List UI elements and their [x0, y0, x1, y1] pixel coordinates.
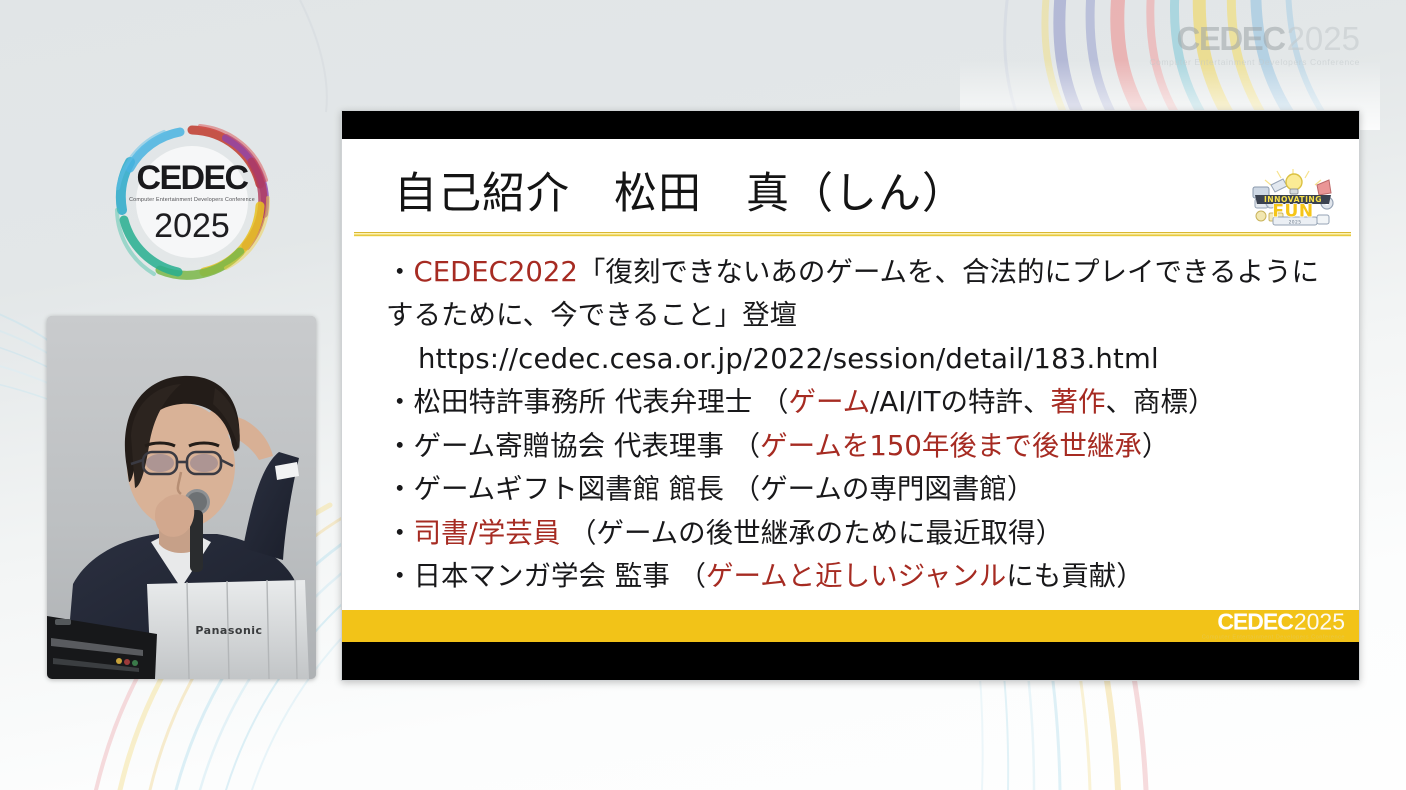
bullet-text-highlight: CEDEC2022 [414, 256, 578, 288]
bullet-text: /AI/ITの特許、 [870, 386, 1050, 418]
bullet-text: （ゲームの後世継承のために最近取得） [560, 517, 1063, 549]
bullet-line: ・ゲームギフト図書館 館長 （ゲームの専門図書館） [386, 468, 1331, 511]
bullet-line: ・CEDEC2022「復刻できないあのゲームを、合法的にプレイできるようにするた… [386, 251, 1331, 338]
bullet-text-highlight: ゲーム [788, 386, 870, 418]
svg-text:Panasonic: Panasonic [195, 624, 262, 637]
slide-bottom-bar [342, 642, 1359, 680]
slide-content: 自己紹介 松田 真（しん） [342, 139, 1359, 610]
bullet-text: にも貢献） [1006, 560, 1144, 592]
svg-text:FUN: FUN [1272, 202, 1313, 222]
circle-logo-brand: CEDEC [136, 161, 247, 195]
bullet-text: ・日本マンガ学会 監事 （ [386, 560, 706, 592]
cedec-watermark-top-right: CEDEC 2025 Computer Entertainment Develo… [1149, 22, 1360, 67]
circle-logo-year: 2025 [154, 209, 230, 243]
watermark-year: 2025 [1287, 22, 1360, 55]
footer-logotype: CEDEC 2025 [1202, 611, 1345, 634]
presentation-screen: CEDEC 2025 Computer Entertainment Develo… [0, 0, 1406, 790]
bullet-line: https://cedec.cesa.or.jp/2022/session/de… [418, 338, 1331, 381]
bullet-text: ・松田特許事務所 代表弁理士 （ [386, 386, 788, 418]
footer-year: 2025 [1294, 611, 1345, 634]
slide-top-bar [342, 111, 1359, 139]
bullet-line: ・日本マンガ学会 監事 （ゲームと近しいジャンルにも貢献） [386, 555, 1331, 598]
innovating-fun-icon: 2025 INNOVATING FUN [1241, 169, 1345, 231]
title-divider [354, 232, 1351, 237]
footer-subtitle: Computer Entertainment Developers Confer… [1202, 636, 1345, 642]
speaker-camera-feed: Panasonic [47, 316, 316, 679]
circle-logo-subtitle: Computer Entertainment Developers Confer… [129, 198, 255, 203]
slide-footer-logo: CEDEC 2025 Computer Entertainment Develo… [1202, 611, 1345, 642]
innovating-fun-badge: 2025 INNOVATING FUN [1241, 169, 1345, 231]
bullet-text: 、商標） [1106, 386, 1216, 418]
bullet-text: ・ [386, 517, 414, 549]
bullet-text: ） [1142, 430, 1170, 462]
bullet-line: ・司書/学芸員 （ゲームの後世継承のために最近取得） [386, 512, 1331, 555]
slide-bullet-list: ・CEDEC2022「復刻できないあのゲームを、合法的にプレイできるようにするた… [386, 251, 1331, 599]
watermark-logotype: CEDEC 2025 [1149, 22, 1360, 55]
speaker-image: Panasonic [47, 316, 316, 679]
bullet-text: ・ゲームギフト図書館 館長 （ゲームの専門図書館） [386, 473, 1034, 505]
slide-title: 自己紹介 松田 真（しん） [394, 159, 966, 221]
cedec-circle-logo: CEDEC Computer Entertainment Developers … [108, 118, 276, 286]
watermark-brand: CEDEC [1177, 22, 1285, 55]
bullet-text-highlight: ゲームと近しいジャンル [706, 560, 1006, 592]
bullet-line: ・ゲーム寄贈協会 代表理事 （ゲームを150年後まで後世継承） [386, 425, 1331, 468]
bullet-text: ・ [386, 256, 414, 288]
bullet-text-highlight: ゲームを150年後まで後世継承 [760, 430, 1142, 462]
bullet-line: ・松田特許事務所 代表弁理士 （ゲーム/AI/ITの特許、著作、商標） [386, 381, 1331, 424]
bullet-text: https://cedec.cesa.or.jp/2022/session/de… [418, 343, 1159, 375]
bullet-text-highlight: 司書/学芸員 [414, 517, 561, 549]
footer-brand: CEDEC [1217, 611, 1293, 634]
bullet-text: ・ゲーム寄贈協会 代表理事 （ [386, 430, 760, 462]
presentation-slide: 自己紹介 松田 真（しん） [341, 110, 1360, 681]
bullet-text-highlight: 著作 [1051, 386, 1106, 418]
watermark-subtitle: Computer Entertainment Developers Confer… [1149, 58, 1360, 67]
slide-footer-bar: CEDEC 2025 Computer Entertainment Develo… [342, 610, 1359, 642]
